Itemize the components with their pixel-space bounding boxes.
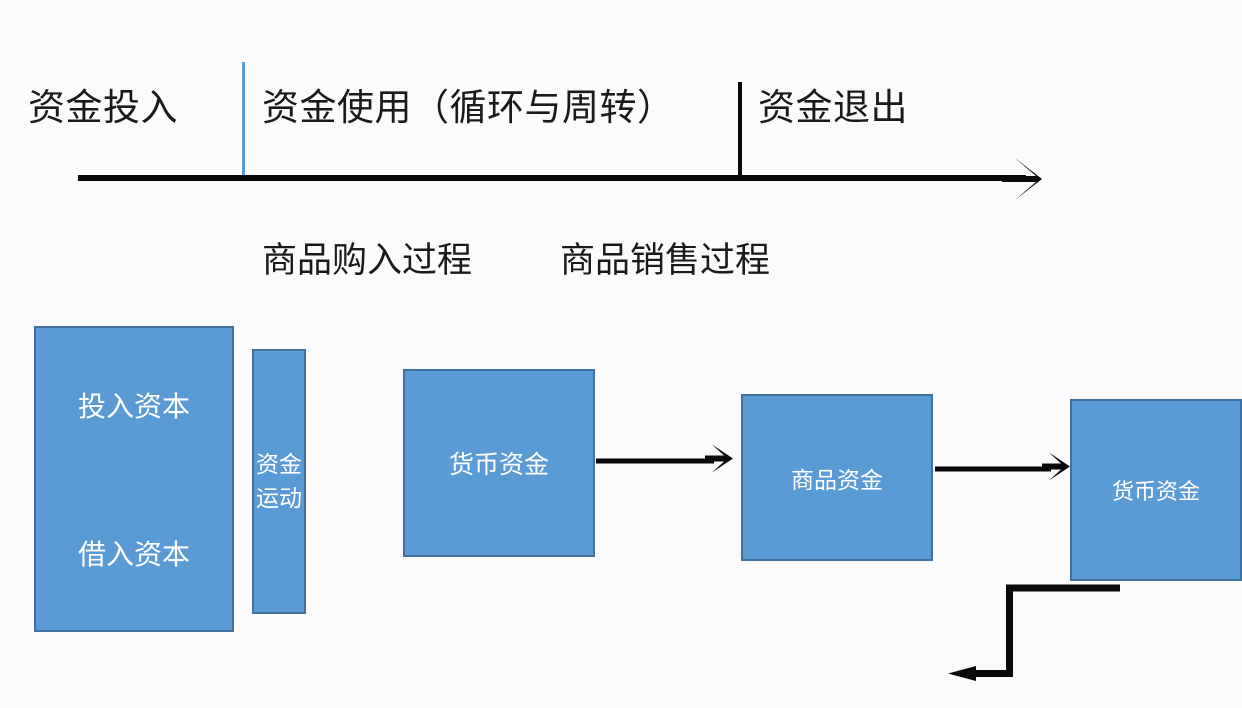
box-monetary-funds-end[interactable]: 货币资金 <box>1070 399 1242 581</box>
phase-label-capital-investment: 资金投入 <box>28 90 178 127</box>
diagram-canvas: 资金投入 资金使用（循环与周转） 资金退出 商品购入过程 商品销售过程 投入资本… <box>0 0 1242 708</box>
flow-arrow-shaft <box>935 467 1051 472</box>
box-monetary-funds-start[interactable]: 货币资金 <box>403 369 595 557</box>
flow-arrow-monetary-to-commodity <box>596 446 734 476</box>
timeline-divider-blue <box>242 62 245 179</box>
box-capital-movement-line-1: 资金 <box>256 448 302 481</box>
box-capital-movement[interactable]: 资金 运动 <box>252 349 306 614</box>
box-monetary-funds-start-label: 货币资金 <box>449 445 549 481</box>
subtitle-purchase-process: 商品购入过程 <box>262 243 472 278</box>
box-invested-capital[interactable]: 投入资本 借入资本 <box>34 326 234 632</box>
flow-arrow-return-cycle <box>946 580 1126 692</box>
box-monetary-funds-end-label: 货币资金 <box>1112 474 1200 506</box>
phase-label-capital-usage: 资金使用（循环与周转） <box>262 90 675 127</box>
flow-arrowhead-icon <box>1041 452 1071 487</box>
flow-arrowhead-icon <box>704 444 734 479</box>
box-commodity-funds[interactable]: 商品资金 <box>741 394 933 561</box>
subtitle-sales-process: 商品销售过程 <box>560 243 770 278</box>
timeline-divider-black <box>738 82 742 179</box>
timeline-arrowhead-icon <box>1000 156 1044 207</box>
timeline-axis-shaft <box>78 175 1026 181</box>
box-capital-movement-line-2: 运动 <box>256 482 302 515</box>
phase-label-capital-withdrawal: 资金退出 <box>758 90 908 127</box>
box-commodity-funds-label: 商品资金 <box>791 461 883 495</box>
flow-arrow-commodity-to-monetary <box>935 454 1071 484</box>
box-invested-capital-line-2: 借入资本 <box>78 533 190 573</box>
box-invested-capital-line-1: 投入资本 <box>78 385 190 425</box>
flow-arrow-shaft <box>596 459 714 464</box>
